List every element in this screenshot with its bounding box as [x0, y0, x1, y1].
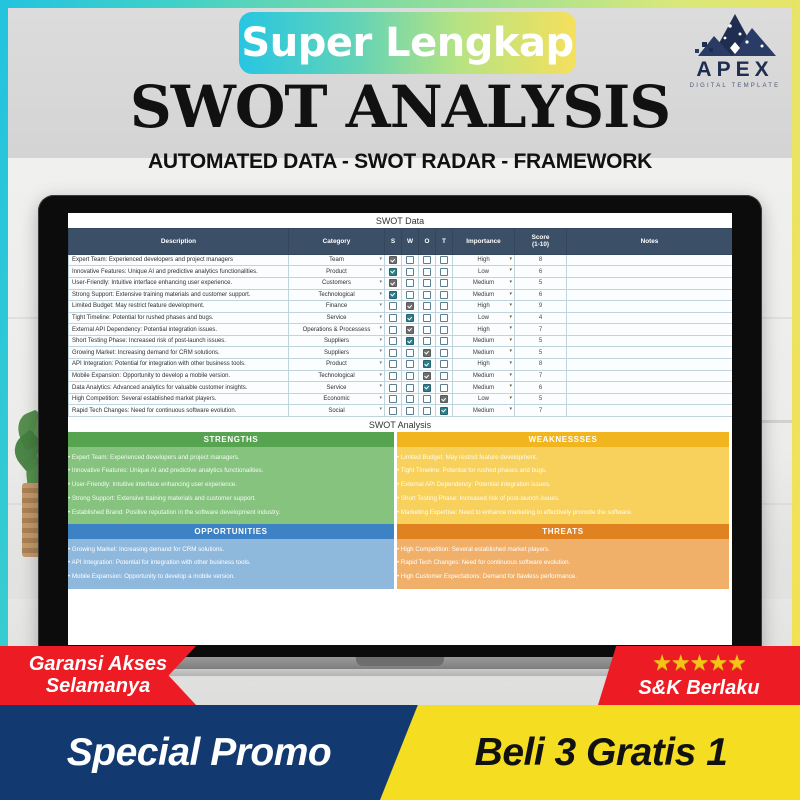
chevron-down-icon[interactable]: ▾: [509, 256, 512, 262]
quadrant-strengths: STRENGTHS• Expert Team: Experienced deve…: [68, 432, 397, 524]
chevron-down-icon[interactable]: ▾: [509, 279, 512, 285]
cell-s[interactable]: [385, 301, 402, 313]
list-item[interactable]: • User-Friendly: Intuitive interface enh…: [68, 479, 394, 493]
cell-score[interactable]: 6: [515, 266, 567, 278]
swot-analysis-title: SWOT Analysis: [68, 417, 732, 432]
cell-score[interactable]: 8: [515, 359, 567, 371]
table-body: Expert Team: Experienced developers and …: [69, 254, 733, 416]
cell-score[interactable]: 7: [515, 324, 567, 336]
col-score[interactable]: Score (1-10): [515, 229, 567, 255]
cell-t[interactable]: [436, 324, 453, 336]
chevron-down-icon[interactable]: ▾: [509, 348, 512, 354]
cell-t[interactable]: [436, 266, 453, 278]
cell-t[interactable]: [436, 312, 453, 324]
chevron-down-icon[interactable]: ▾: [509, 360, 512, 366]
laptop-mockup: SWOT Data Description Category S: [38, 195, 762, 675]
col-score-line2: (1-10): [532, 241, 549, 248]
checkbox[interactable]: [406, 407, 414, 415]
cell-w[interactable]: [402, 312, 419, 324]
cell-s[interactable]: [385, 382, 402, 394]
cell-importance[interactable]: High▾: [453, 359, 515, 371]
table-row: Short Testing Phase: Increased risk of p…: [69, 335, 733, 347]
checkbox[interactable]: [406, 256, 414, 264]
cell-t[interactable]: [436, 289, 453, 301]
col-notes[interactable]: Notes: [567, 229, 733, 255]
table-row: User-Friendly: Intuitive interface enhan…: [69, 277, 733, 289]
col-importance[interactable]: Importance: [453, 229, 515, 255]
cell-o[interactable]: [419, 359, 436, 371]
logo-tagline: DIGITAL TEMPLATE: [690, 83, 781, 89]
chevron-down-icon[interactable]: ▾: [379, 383, 382, 389]
list-item[interactable]: • Short Testing Phase: Increased risk of…: [397, 492, 729, 506]
cell-importance[interactable]: Medium▾: [453, 405, 515, 417]
list-item[interactable]: • Strong Support: Extensive training mat…: [68, 492, 394, 506]
checkbox[interactable]: [389, 337, 397, 345]
checkbox[interactable]: [423, 314, 431, 322]
quadrant-body: • Limited Budget: May restrict feature d…: [397, 447, 729, 524]
checkbox[interactable]: [406, 291, 414, 299]
mountain-logo-icon: [692, 12, 778, 58]
cell-description[interactable]: Limited Budget: May restrict feature dev…: [69, 301, 289, 313]
beli-gratis-label: Beli 3 Gratis 1: [453, 731, 728, 775]
checkbox[interactable]: [423, 395, 431, 403]
table-row: Rapid Tech Changes: Need for continuous …: [69, 405, 733, 417]
checkbox[interactable]: [389, 302, 397, 310]
checkbox[interactable]: [389, 326, 397, 334]
chevron-down-icon[interactable]: ▾: [379, 256, 382, 262]
page-title: SWOT ANALYSIS: [0, 78, 800, 136]
laptop-notch: [356, 657, 444, 666]
cell-o[interactable]: [419, 370, 436, 382]
chevron-down-icon[interactable]: ▾: [509, 325, 512, 331]
cell-score[interactable]: 7: [515, 405, 567, 417]
chevron-down-icon[interactable]: ▾: [509, 302, 512, 308]
cell-score[interactable]: 5: [515, 347, 567, 359]
cell-t[interactable]: [436, 382, 453, 394]
garansi-line-2: Selamanya: [46, 676, 151, 698]
checkbox[interactable]: [389, 268, 397, 276]
cell-w[interactable]: [402, 301, 419, 313]
checkbox[interactable]: [389, 314, 397, 322]
checkbox[interactable]: [440, 302, 448, 310]
checkbox[interactable]: [406, 372, 414, 380]
cell-s[interactable]: [385, 393, 402, 405]
checkbox[interactable]: [440, 407, 448, 415]
checkbox[interactable]: [406, 395, 414, 403]
cell-category[interactable]: Technological▾: [289, 370, 385, 382]
checkbox[interactable]: [423, 302, 431, 310]
cell-category[interactable]: Finance▾: [289, 301, 385, 313]
cell-o[interactable]: [419, 405, 436, 417]
cell-s[interactable]: [385, 266, 402, 278]
cell-category[interactable]: Suppliers▾: [289, 347, 385, 359]
cell-s[interactable]: [385, 405, 402, 417]
list-item[interactable]: • Limited Budget: May restrict feature d…: [397, 451, 729, 465]
col-score-line1: Score: [532, 234, 550, 241]
cell-s[interactable]: [385, 254, 402, 266]
cell-w[interactable]: [402, 289, 419, 301]
chevron-down-icon[interactable]: ▾: [379, 395, 382, 401]
special-promo-label: Special Promo: [67, 731, 357, 775]
cell-description[interactable]: External API Dependency: Potential integ…: [69, 324, 289, 336]
cell-category[interactable]: Product▾: [289, 359, 385, 371]
cell-t[interactable]: [436, 370, 453, 382]
cell-w[interactable]: [402, 359, 419, 371]
checkbox[interactable]: [389, 372, 397, 380]
cell-s[interactable]: [385, 324, 402, 336]
table-header-row: Description Category S W O T Importance …: [69, 229, 733, 255]
checkbox[interactable]: [406, 349, 414, 357]
cell-category[interactable]: Service▾: [289, 382, 385, 394]
quadrant-weaknesses: WEAKNESSSES• Limited Budget: May restric…: [397, 432, 729, 524]
col-t[interactable]: T: [436, 229, 453, 255]
apex-logo: APEX DIGITAL TEMPLATE: [684, 12, 786, 94]
cell-description[interactable]: High Competition: Several established ma…: [69, 393, 289, 405]
swot-data-table: Description Category S W O T Importance …: [68, 228, 732, 417]
cell-importance[interactable]: Low▾: [453, 266, 515, 278]
laptop-lid: SWOT Data Description Category S: [38, 195, 762, 657]
cell-o[interactable]: [419, 301, 436, 313]
star-rating-icon: ★★★★★: [652, 652, 746, 674]
cell-score[interactable]: 6: [515, 382, 567, 394]
cell-description[interactable]: Expert Team: Experienced developers and …: [69, 254, 289, 266]
cell-description[interactable]: Short Testing Phase: Increased risk of p…: [69, 335, 289, 347]
cell-notes[interactable]: [567, 266, 733, 278]
table-row: API Integration: Potential for integrati…: [69, 359, 733, 371]
cell-t[interactable]: [436, 359, 453, 371]
cell-s[interactable]: [385, 335, 402, 347]
cell-score[interactable]: 5: [515, 277, 567, 289]
cell-o[interactable]: [419, 347, 436, 359]
cell-w[interactable]: [402, 277, 419, 289]
chevron-down-icon[interactable]: ▾: [379, 337, 382, 343]
chevron-down-icon[interactable]: ▾: [379, 348, 382, 354]
cell-description[interactable]: API Integration: Potential for integrati…: [69, 359, 289, 371]
cell-o[interactable]: [419, 393, 436, 405]
cell-category[interactable]: Service▾: [289, 312, 385, 324]
cell-o[interactable]: [419, 324, 436, 336]
cell-w[interactable]: [402, 324, 419, 336]
garansi-line-1: Garansi Akses: [29, 654, 167, 676]
checkbox[interactable]: [389, 395, 397, 403]
list-item[interactable]: • Established Brand: Positive reputation…: [68, 506, 394, 520]
table-row: Expert Team: Experienced developers and …: [69, 254, 733, 266]
chevron-down-icon[interactable]: ▾: [509, 395, 512, 401]
cell-description[interactable]: User-Friendly: Intuitive interface enhan…: [69, 277, 289, 289]
checkbox[interactable]: [423, 372, 431, 380]
cell-category[interactable]: Team▾: [289, 254, 385, 266]
table-row: Limited Budget: May restrict feature dev…: [69, 301, 733, 313]
checkbox[interactable]: [423, 256, 431, 264]
chevron-down-icon[interactable]: ▾: [509, 383, 512, 389]
cell-description[interactable]: Data Analytics: Advanced analytics for v…: [69, 382, 289, 394]
cell-importance[interactable]: Medium▾: [453, 370, 515, 382]
checkbox[interactable]: [423, 337, 431, 345]
checkbox[interactable]: [406, 384, 414, 392]
cell-o[interactable]: [419, 382, 436, 394]
quadrant-body: • Expert Team: Experienced developers an…: [68, 447, 394, 524]
cell-category[interactable]: Operations & Processess▾: [289, 324, 385, 336]
cell-s[interactable]: [385, 347, 402, 359]
list-item[interactable]: • Marketing Expertise: Need to enhance m…: [397, 506, 729, 520]
checkbox[interactable]: [440, 384, 448, 392]
cell-o[interactable]: [419, 277, 436, 289]
checkbox[interactable]: [406, 302, 414, 310]
cell-importance[interactable]: Medium▾: [453, 335, 515, 347]
cell-score[interactable]: 4: [515, 312, 567, 324]
checkbox[interactable]: [389, 256, 397, 264]
chevron-down-icon[interactable]: ▾: [509, 314, 512, 320]
chevron-down-icon[interactable]: ▾: [509, 291, 512, 297]
cell-o[interactable]: [419, 335, 436, 347]
cell-w[interactable]: [402, 347, 419, 359]
cell-score[interactable]: 8: [515, 254, 567, 266]
logo-name: APEX: [696, 59, 773, 80]
cell-importance[interactable]: Low▾: [453, 393, 515, 405]
cell-o[interactable]: [419, 254, 436, 266]
cell-score[interactable]: 7: [515, 370, 567, 382]
table-row: Mobile Expansion: Opportunity to develop…: [69, 370, 733, 382]
chevron-down-icon[interactable]: ▾: [509, 372, 512, 378]
cell-category[interactable]: Social▾: [289, 405, 385, 417]
checkbox[interactable]: [440, 349, 448, 357]
poster-canvas: Super Lengkap SWOT ANALYSIS AUTOMATED DA…: [0, 0, 800, 800]
checkbox[interactable]: [440, 291, 448, 299]
quadrant-heading: STRENGTHS: [68, 432, 394, 447]
cell-description[interactable]: Growing Market: Increasing demand for CR…: [69, 347, 289, 359]
cell-w[interactable]: [402, 254, 419, 266]
checkbox[interactable]: [406, 314, 414, 322]
cell-w[interactable]: [402, 405, 419, 417]
table-row: Growing Market: Increasing demand for CR…: [69, 347, 733, 359]
beli-gratis-banner: Beli 3 Gratis 1: [380, 705, 800, 800]
checkbox[interactable]: [440, 326, 448, 334]
col-o[interactable]: O: [419, 229, 436, 255]
quadrant-heading: OPPORTUNITIES: [68, 524, 394, 539]
cell-category[interactable]: Suppliers▾: [289, 335, 385, 347]
chevron-down-icon[interactable]: ▾: [509, 267, 512, 273]
checkbox[interactable]: [440, 314, 448, 322]
list-item[interactable]: • Expert Team: Experienced developers an…: [68, 451, 394, 465]
spreadsheet: SWOT Data Description Category S: [68, 213, 732, 417]
checkbox[interactable]: [440, 395, 448, 403]
quadrant-heading: THREATS: [397, 524, 729, 539]
list-item[interactable]: • Mobile Expansion: Opportunity to devel…: [68, 571, 394, 585]
page-subtitle: AUTOMATED DATA - SWOT RADAR - FRAMEWORK: [0, 150, 800, 174]
list-item[interactable]: • External API Dependency: Potential int…: [397, 479, 729, 493]
cell-importance[interactable]: Medium▾: [453, 382, 515, 394]
cell-s[interactable]: [385, 359, 402, 371]
cell-importance[interactable]: Medium▾: [453, 347, 515, 359]
super-lengkap-badge: Super Lengkap: [239, 12, 576, 74]
checkbox[interactable]: [406, 360, 414, 368]
table-row: Tight Timeline: Potential for rushed pha…: [69, 312, 733, 324]
cell-notes[interactable]: [567, 254, 733, 266]
quadrant-threats: THREATS• High Competition: Several estab…: [397, 524, 729, 588]
cell-notes[interactable]: [567, 382, 733, 394]
checkbox[interactable]: [423, 291, 431, 299]
cell-w[interactable]: [402, 335, 419, 347]
checkbox[interactable]: [440, 337, 448, 345]
checkbox[interactable]: [423, 360, 431, 368]
cell-o[interactable]: [419, 289, 436, 301]
special-promo-banner: Special Promo: [0, 705, 424, 800]
checkbox[interactable]: [406, 279, 414, 287]
cell-o[interactable]: [419, 266, 436, 278]
cell-category[interactable]: Technological▾: [289, 289, 385, 301]
cell-importance[interactable]: Low▾: [453, 312, 515, 324]
checkbox[interactable]: [389, 349, 397, 357]
cell-t[interactable]: [436, 335, 453, 347]
list-item[interactable]: • High Customer Expectations: Demand for…: [397, 571, 729, 585]
cell-notes[interactable]: [567, 405, 733, 417]
cell-s[interactable]: [385, 312, 402, 324]
quadrant-body: • High Competition: Several established …: [397, 539, 729, 588]
garansi-ribbon: Garansi Akses Selamanya: [0, 646, 196, 705]
cell-importance[interactable]: High▾: [453, 254, 515, 266]
quadrant-body: • Growing Market: Increasing demand for …: [68, 539, 394, 588]
cell-notes[interactable]: [567, 393, 733, 405]
sk-berlaku-label: S&K Berlaku: [638, 677, 759, 700]
cell-description[interactable]: Innovative Features: Unique AI and predi…: [69, 266, 289, 278]
chevron-down-icon[interactable]: ▾: [379, 279, 382, 285]
cell-score[interactable]: 5: [515, 393, 567, 405]
cell-notes[interactable]: [567, 312, 733, 324]
checkbox[interactable]: [389, 291, 397, 299]
swot-data-title: SWOT Data: [68, 213, 732, 228]
cell-importance[interactable]: High▾: [453, 301, 515, 313]
checkbox[interactable]: [389, 384, 397, 392]
cell-importance[interactable]: High▾: [453, 324, 515, 336]
cell-t[interactable]: [436, 277, 453, 289]
chevron-down-icon[interactable]: ▾: [379, 360, 382, 366]
cell-category[interactable]: Customers▾: [289, 277, 385, 289]
checkbox[interactable]: [389, 279, 397, 287]
table-row: Innovative Features: Unique AI and predi…: [69, 266, 733, 278]
checkbox[interactable]: [423, 384, 431, 392]
cell-notes[interactable]: [567, 324, 733, 336]
cell-t[interactable]: [436, 301, 453, 313]
cell-description[interactable]: Rapid Tech Changes: Need for continuous …: [69, 405, 289, 417]
cell-s[interactable]: [385, 289, 402, 301]
list-item[interactable]: • API Integration: Potential for integra…: [68, 557, 394, 571]
checkbox[interactable]: [440, 268, 448, 276]
cell-w[interactable]: [402, 393, 419, 405]
cell-description[interactable]: Mobile Expansion: Opportunity to develop…: [69, 370, 289, 382]
chevron-down-icon[interactable]: ▾: [379, 302, 382, 308]
col-description[interactable]: Description: [69, 229, 289, 255]
col-w[interactable]: W: [402, 229, 419, 255]
checkbox[interactable]: [406, 337, 414, 345]
chevron-down-icon[interactable]: ▾: [379, 314, 382, 320]
cell-t[interactable]: [436, 347, 453, 359]
list-item[interactable]: • High Competition: Several established …: [397, 543, 729, 557]
cell-t[interactable]: [436, 405, 453, 417]
checkbox[interactable]: [423, 268, 431, 276]
checkbox[interactable]: [423, 279, 431, 287]
sk-berlaku-ribbon: ★★★★★ S&K Berlaku: [598, 646, 800, 705]
checkbox[interactable]: [389, 360, 397, 368]
cell-notes[interactable]: [567, 289, 733, 301]
chevron-down-icon[interactable]: ▾: [379, 372, 382, 378]
cell-importance[interactable]: Medium▾: [453, 277, 515, 289]
chevron-down-icon[interactable]: ▾: [509, 337, 512, 343]
cell-notes[interactable]: [567, 359, 733, 371]
table-row: Data Analytics: Advanced analytics for v…: [69, 382, 733, 394]
chevron-down-icon[interactable]: ▾: [379, 406, 382, 412]
list-item[interactable]: • Tight Timeline: Potential for rushed p…: [397, 465, 729, 479]
checkbox[interactable]: [423, 326, 431, 334]
list-item[interactable]: • Rapid Tech Changes: Need for continuou…: [397, 557, 729, 571]
chevron-down-icon[interactable]: ▾: [379, 267, 382, 273]
list-item[interactable]: • Innovative Features: Unique AI and pre…: [68, 465, 394, 479]
cell-category[interactable]: Product▾: [289, 266, 385, 278]
quadrant-heading: WEAKNESSSES: [397, 432, 729, 447]
cell-description[interactable]: Tight Timeline: Potential for rushed pha…: [69, 312, 289, 324]
checkbox[interactable]: [389, 407, 397, 415]
cell-w[interactable]: [402, 266, 419, 278]
list-item[interactable]: • Growing Market: Increasing demand for …: [68, 543, 394, 557]
cell-category[interactable]: Economic▾: [289, 393, 385, 405]
quadrant-opportunities: OPPORTUNITIES• Growing Market: Increasin…: [68, 524, 397, 588]
cell-notes[interactable]: [567, 277, 733, 289]
cell-w[interactable]: [402, 382, 419, 394]
cell-notes[interactable]: [567, 370, 733, 382]
cell-s[interactable]: [385, 277, 402, 289]
table-row: High Competition: Several established ma…: [69, 393, 733, 405]
checkbox[interactable]: [440, 372, 448, 380]
cell-w[interactable]: [402, 370, 419, 382]
cell-score[interactable]: 5: [515, 335, 567, 347]
cell-s[interactable]: [385, 370, 402, 382]
swot-quadrants: STRENGTHS• Expert Team: Experienced deve…: [68, 432, 732, 589]
chevron-down-icon[interactable]: ▾: [509, 406, 512, 412]
table-row: Strong Support: Extensive training mater…: [69, 289, 733, 301]
chevron-down-icon[interactable]: ▾: [379, 325, 382, 331]
checkbox[interactable]: [440, 360, 448, 368]
cell-notes[interactable]: [567, 335, 733, 347]
cell-score[interactable]: 6: [515, 289, 567, 301]
col-s[interactable]: S: [385, 229, 402, 255]
cell-importance[interactable]: Medium▾: [453, 289, 515, 301]
checkbox[interactable]: [406, 326, 414, 334]
cell-t[interactable]: [436, 393, 453, 405]
cell-t[interactable]: [436, 254, 453, 266]
cell-notes[interactable]: [567, 301, 733, 313]
cell-description[interactable]: Strong Support: Extensive training mater…: [69, 289, 289, 301]
checkbox[interactable]: [440, 279, 448, 287]
cell-notes[interactable]: [567, 347, 733, 359]
checkbox[interactable]: [423, 349, 431, 357]
col-category[interactable]: Category: [289, 229, 385, 255]
table-row: External API Dependency: Potential integ…: [69, 324, 733, 336]
checkbox[interactable]: [406, 268, 414, 276]
badge-label: Super Lengkap: [241, 20, 573, 66]
checkbox[interactable]: [423, 407, 431, 415]
chevron-down-icon[interactable]: ▾: [379, 291, 382, 297]
checkbox[interactable]: [440, 256, 448, 264]
cell-score[interactable]: 9: [515, 301, 567, 313]
laptop-screen: SWOT Data Description Category S: [68, 213, 732, 645]
cell-o[interactable]: [419, 312, 436, 324]
